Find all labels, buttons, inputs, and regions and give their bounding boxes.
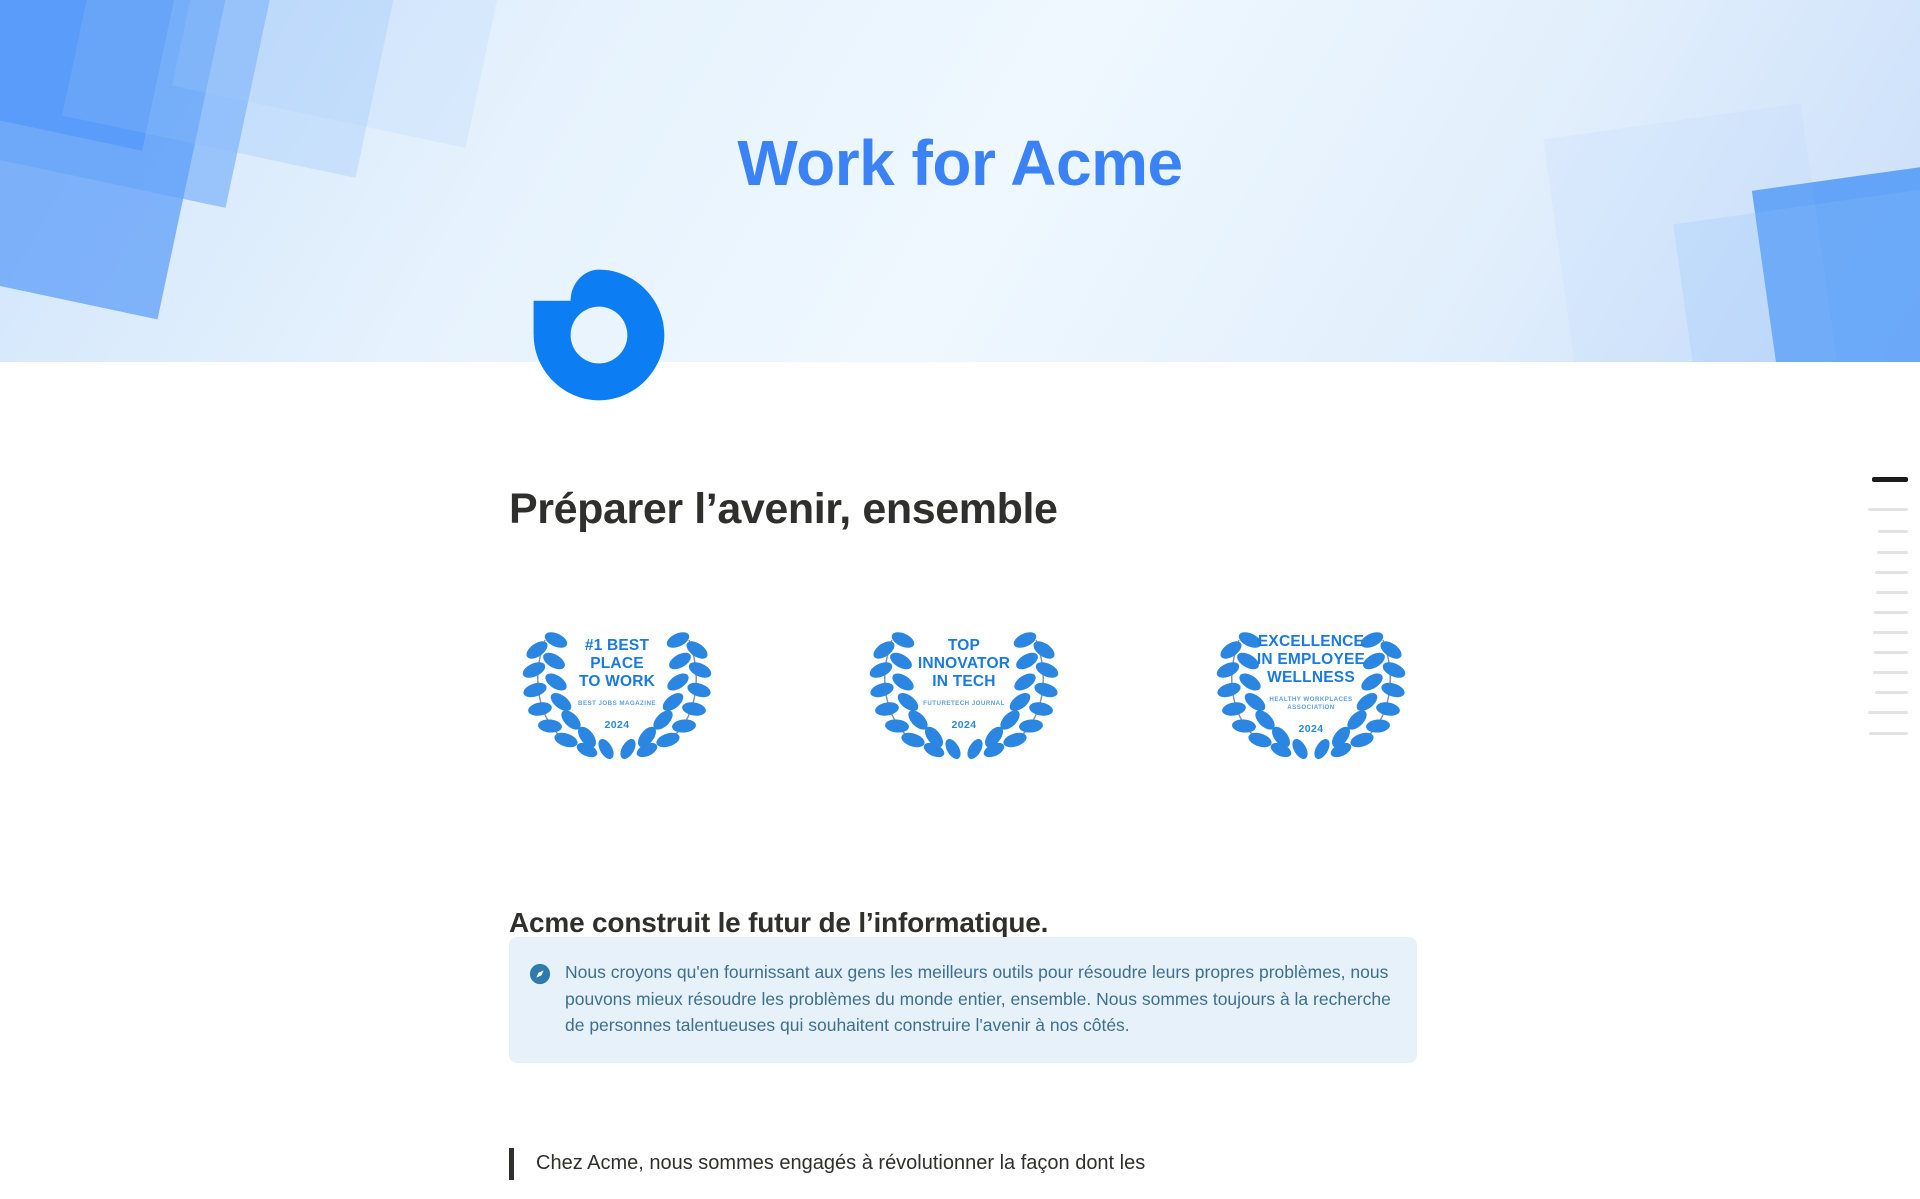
award-badge: #1 BEST PLACE TO WORK BEST JOBS MAGAZINE…: [509, 592, 725, 772]
minimap-line[interactable]: [1874, 611, 1908, 614]
award-title-line: TO WORK: [551, 673, 683, 691]
callout-box: Nous croyons qu'en fournissant aux gens …: [509, 937, 1417, 1063]
award-title-line: PLACE: [551, 655, 683, 673]
award-title-line: IN EMPLOYEE: [1245, 651, 1377, 669]
minimap-line[interactable]: [1878, 530, 1908, 533]
award-badge-text: #1 BEST PLACE TO WORK BEST JOBS MAGAZINE…: [551, 633, 683, 730]
page-title: Préparer l’avenir, ensemble: [509, 484, 1419, 536]
blockquote: Chez Acme, nous sommes engagés à révolut…: [509, 1148, 1417, 1180]
award-organization: FUTURETECH JOURNAL: [898, 700, 1030, 708]
award-title-line: WELLNESS: [1245, 669, 1377, 687]
award-badge-text: TOP INNOVATOR IN TECH FUTURETECH JOURNAL…: [898, 633, 1030, 730]
award-title-line: IN TECH: [898, 673, 1030, 691]
minimap-line[interactable]: [1868, 508, 1908, 511]
section-heading: Acme construit le futur de l’informatiqu…: [509, 907, 1419, 939]
compass-icon: [529, 963, 551, 985]
award-badge-title: #1 BEST PLACE TO WORK: [551, 637, 683, 691]
award-badge-title: TOP INNOVATOR IN TECH: [898, 637, 1030, 691]
hero-banner: Work for Acme: [0, 0, 1920, 362]
award-title-line: EXCELLENCE: [1245, 633, 1377, 651]
award-organization: HEALTHY WORKPLACES ASSOCIATION: [1245, 696, 1377, 713]
document-outline-minimap[interactable]: [1850, 470, 1920, 720]
award-year: 2024: [1245, 723, 1377, 735]
callout-text: Nous croyons qu'en fournissant aux gens …: [565, 959, 1391, 1039]
minimap-line[interactable]: [1873, 671, 1908, 674]
minimap-line[interactable]: [1875, 691, 1908, 694]
minimap-line[interactable]: [1874, 651, 1908, 654]
hero-title: Work for Acme: [0, 128, 1920, 198]
award-badge: TOP INNOVATOR IN TECH FUTURETECH JOURNAL…: [856, 592, 1072, 772]
award-title-line: #1 BEST: [551, 637, 683, 655]
award-organization: BEST JOBS MAGAZINE: [551, 700, 683, 708]
acme-spiral-logo-icon: [528, 264, 670, 406]
award-year: 2024: [551, 719, 683, 731]
award-title-line: TOP: [898, 637, 1030, 655]
minimap-line[interactable]: [1877, 551, 1908, 554]
minimap-line-active[interactable]: [1872, 477, 1908, 482]
page-root: Work for Acme Préparer l’avenir, ensembl…: [0, 0, 1920, 1199]
award-title-line: INNOVATOR: [898, 655, 1030, 673]
minimap-line[interactable]: [1869, 732, 1908, 735]
award-badge: EXCELLENCE IN EMPLOYEE WELLNESS HEALTHY …: [1203, 592, 1419, 772]
award-year: 2024: [898, 719, 1030, 731]
award-badge-title: EXCELLENCE IN EMPLOYEE WELLNESS: [1245, 633, 1377, 687]
award-badges: #1 BEST PLACE TO WORK BEST JOBS MAGAZINE…: [509, 592, 1419, 772]
minimap-line[interactable]: [1875, 571, 1908, 574]
minimap-line[interactable]: [1873, 631, 1908, 634]
minimap-line[interactable]: [1868, 711, 1908, 714]
minimap-line[interactable]: [1876, 591, 1908, 594]
award-badge-text: EXCELLENCE IN EMPLOYEE WELLNESS HEALTHY …: [1245, 629, 1377, 735]
